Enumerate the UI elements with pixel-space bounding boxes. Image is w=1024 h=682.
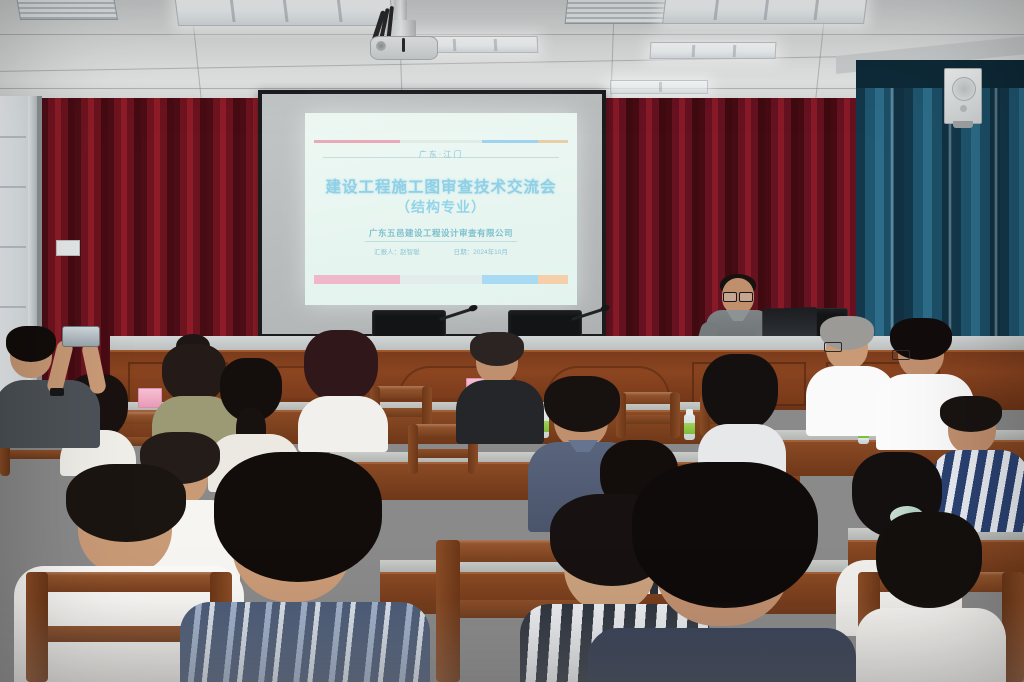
hair [6,326,56,362]
hair [66,464,186,542]
slide-date-label: 日期：2024年10月 [454,246,508,256]
hair [214,452,382,582]
phone-icon[interactable] [62,326,100,347]
hair [940,396,1002,432]
slide-location: 广东·江门 [305,149,577,160]
slide-subtitle: （结构专业） [305,197,577,217]
hair [304,330,378,404]
slide-organization: 广东五邑建设工程设计审查有限公司 [305,227,577,239]
ceiling-light-4 [662,0,868,24]
watch-icon [50,388,64,396]
ceiling-light-3 [610,80,708,94]
foreground-haze [0,600,1024,682]
ceiling-light-5 [650,42,777,59]
torso [298,396,388,452]
conference-room-photo: 广东·江门 建设工程施工图审查技术交流会 （结构专业） 广东五邑建设工程设计审查… [0,0,1024,682]
hair [702,354,778,432]
hair [544,376,620,432]
presentation-slide: 广东·江门 建设工程施工图审查技术交流会 （结构专业） 广东五邑建设工程设计审查… [305,113,577,305]
person-long-hair-right-mid [696,354,786,474]
slide-org-underline [365,241,517,242]
glasses-icon [892,350,910,360]
glasses-icon [824,342,842,352]
curtain-header-blue [856,60,1024,88]
hair [632,462,818,608]
wall-speaker [944,68,982,124]
ceiling-projector [362,0,442,62]
slide-top-color-bar [314,140,568,143]
wall-outlet-box [56,240,80,256]
person-photographer [0,318,110,438]
slide-bottom-color-bar [314,275,568,284]
air-vent-left [16,0,118,20]
glasses-icon [723,292,753,300]
hair [876,512,982,608]
slide-presenter-label: 汇报人：赵智聪 [374,246,420,256]
person-long-hair-center [296,330,388,450]
slide-title: 建设工程施工图审查技术交流会 [305,175,577,197]
slide-meta: 汇报人：赵智聪 日期：2024年10月 [305,246,577,256]
hair [470,332,524,366]
water-bottle-3 [684,414,695,440]
